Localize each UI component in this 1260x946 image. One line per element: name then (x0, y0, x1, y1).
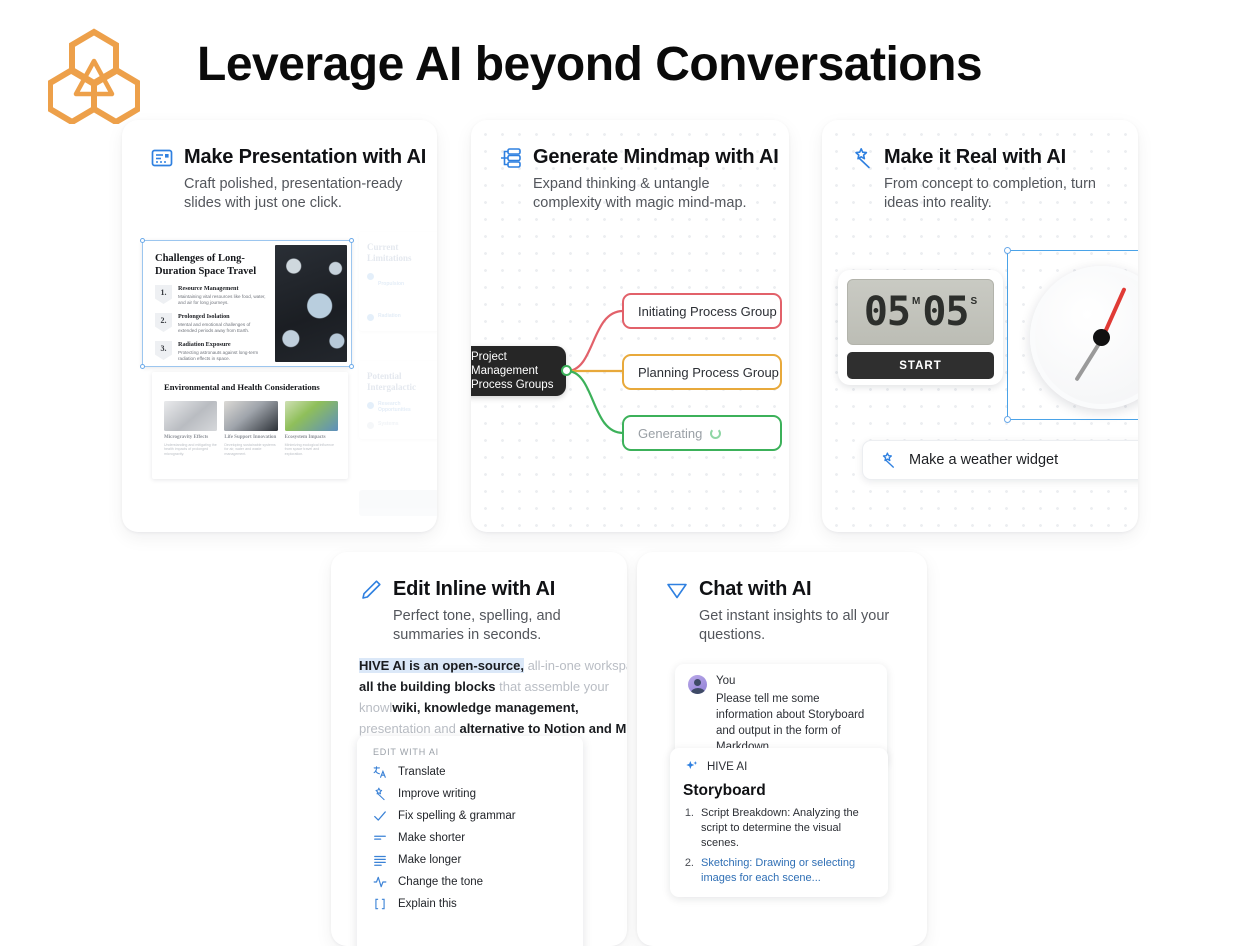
loading-spinner-icon (710, 428, 721, 439)
mindmap-root-label: Project Management Process Groups (471, 350, 556, 392)
cell-image (285, 401, 338, 431)
list-number: 2. (683, 856, 694, 886)
slide-bullet: 1. Resource Management Maintaining vital… (155, 285, 269, 306)
cell-desc: Developing sustainable systems for air, … (224, 443, 277, 457)
bullet-title: Resource Management (178, 285, 269, 293)
edit-with-ai-menu[interactable]: Edit with AI Translate Improv (357, 736, 583, 946)
cell-title: Ecosystem Impacts (285, 435, 338, 441)
slide-bullet: 2. Prolonged Isolation Mental and emotio… (155, 313, 269, 334)
timer-minutes: 05 (864, 292, 910, 332)
list-item: 2. Sketching: Drawing or selecting image… (683, 856, 875, 886)
bullet-desc: Protecting astronauts against long-term … (178, 350, 269, 362)
message-heading: Storyboard (683, 782, 875, 800)
bullet-desc: Mental and emotional challenges of exten… (178, 322, 269, 334)
bullet-desc: Maintaining vital resources like food, w… (178, 294, 269, 306)
cell-image (164, 401, 217, 431)
menu-item-label: Explain this (398, 898, 457, 910)
editable-paragraph[interactable]: HIVE AI is an open-source, all-in-one wo… (359, 655, 627, 739)
ghost-row-label: Radiation (378, 313, 401, 319)
list-number: 1. (683, 806, 694, 851)
presentation-icon (150, 146, 174, 170)
translate-icon (373, 765, 387, 779)
card-title: Edit Inline with AI (393, 576, 555, 602)
make-real-prompt-bar[interactable]: Make a weather widget (862, 440, 1138, 480)
menu-item-make-shorter[interactable]: Make shorter (357, 827, 583, 849)
menu-item-change-tone[interactable]: Change the tone (357, 871, 583, 893)
card-make-it-real[interactable]: Make it Real with AI From concept to com… (822, 120, 1138, 532)
slide-cell: Ecosystem Impacts Minimizing ecological … (285, 401, 338, 457)
chat-message-ai: HIVE AI Storyboard 1. Script Breakdown: … (670, 748, 888, 897)
ghost-heading: Current Limitations (367, 242, 431, 264)
menu-item-label: Change the tone (398, 876, 483, 888)
user-avatar (688, 675, 707, 694)
paragraph-span: that assemble (499, 679, 584, 694)
message-author: HIVE AI (707, 761, 747, 773)
send-plane-icon (665, 578, 689, 602)
tone-wave-icon (373, 875, 387, 889)
mindmap-root-node[interactable]: Project Management Process Groups (471, 346, 566, 396)
resize-handle-br[interactable] (349, 364, 354, 369)
card-edit-inline[interactable]: Edit Inline with AI Perfect tone, spelli… (331, 552, 627, 946)
card-make-presentation[interactable]: Make Presentation with AI Craft polished… (122, 120, 437, 532)
bullet-dot (367, 314, 374, 321)
paragraph-span: all-in-one workspace (524, 658, 627, 673)
menu-item-label: Improve writing (398, 788, 476, 800)
mindmap-node-label: Planning Process Group (638, 365, 779, 380)
analog-clock (1030, 266, 1138, 409)
magic-wand-icon (879, 451, 897, 469)
mindmap-node-label: Initiating Process Group (638, 304, 777, 319)
paragraph-span: and Miro. (589, 721, 627, 736)
card-subtitle: Craft polished, presentation-ready slide… (184, 175, 419, 213)
list-text: Script Breakdown: Analyzing the script t… (701, 806, 875, 851)
slide-heading: Environmental and Health Considerations (164, 382, 338, 393)
paragraph-span: HIVE AI is an open-source, (359, 658, 524, 673)
list-item: 1. Script Breakdown: Analyzing the scrip… (683, 806, 875, 851)
card-title: Make it Real with AI (884, 144, 1066, 170)
menu-item-translate[interactable]: Translate (357, 761, 583, 783)
card-subtitle: Perfect tone, spelling, and summaries in… (393, 607, 609, 645)
menu-item-improve-writing[interactable]: Improve writing (357, 783, 583, 805)
menu-item-label: Fix spelling & grammar (398, 810, 516, 822)
cell-image (224, 401, 277, 431)
timer-seconds-unit: S (971, 296, 978, 307)
page-header: Leverage AI beyond Conversations (0, 0, 1260, 120)
timer-widget[interactable]: 05 M 05 S START (838, 270, 1003, 385)
bullet-dot (367, 273, 374, 280)
ghost-footer-block (359, 490, 437, 516)
menu-item-label: Translate (398, 766, 446, 778)
ghost-row-text: ­­­­­­­­­­ (378, 300, 404, 306)
mindmap-node-label: Generating (638, 426, 702, 441)
ghost-row-label: Systems (378, 421, 399, 427)
hive-hexagon-logo (48, 28, 140, 124)
cell-desc: Understanding and mitigating the health … (164, 443, 217, 457)
paragraph-span: all the building blocks (359, 679, 499, 694)
menu-item-fix-spelling[interactable]: Fix spelling & grammar (357, 805, 583, 827)
ghost-row-label: Propulsion (378, 281, 404, 287)
ghost-row-text: ­­­­­­­­­­­­­ (378, 292, 404, 298)
magic-wand-icon (850, 146, 874, 170)
ghost-row-label: Research Opportunities (378, 401, 431, 413)
menu-item-label: Make shorter (398, 832, 465, 844)
bullet-number: 1. (155, 285, 172, 304)
resize-handle-tl[interactable] (140, 238, 145, 243)
card-title: Make Presentation with AI (184, 144, 426, 170)
ghost-slides-panel: Current Limitations Propulsion ­­­­­­­­­… (359, 232, 437, 522)
message-author: You (716, 675, 874, 687)
slide-image (275, 245, 347, 362)
slide-cell: Life Support Innovation Developing susta… (224, 401, 277, 457)
bullet-title: Prolonged Isolation (178, 313, 269, 321)
menu-section-label: Edit with AI (357, 747, 583, 761)
card-header: Chat with AI Get instant insights to all… (665, 576, 909, 645)
cell-title: Life Support Innovation (224, 435, 277, 441)
card-header: Make it Real with AI From concept to com… (850, 144, 1120, 213)
page-title: Leverage AI beyond Conversations (197, 34, 982, 96)
card-chat-with-ai[interactable]: Chat with AI Get instant insights to all… (637, 552, 927, 946)
timer-start-button[interactable]: START (847, 352, 994, 379)
card-subtitle: Get instant insights to all your questio… (699, 607, 909, 645)
sparkle-wand-icon (373, 787, 387, 801)
message-ordered-list: 1. Script Breakdown: Analyzing the scrip… (683, 806, 875, 886)
resize-handle-tl[interactable] (1004, 247, 1011, 254)
resize-handle-bl[interactable] (140, 364, 145, 369)
bullet-dot (367, 422, 374, 429)
list-text: Sketching: Drawing or selecting images f… (701, 856, 875, 886)
message-text: Please tell me some information about St… (716, 691, 874, 755)
timer-seconds: 05 (922, 292, 968, 332)
slide-thumbnail-second[interactable]: Environmental and Health Considerations … (152, 372, 348, 479)
bullet-title: Radiation Exposure (178, 341, 269, 349)
menu-item-explain-this[interactable]: Explain this (357, 893, 583, 915)
mindmap-connector-port[interactable] (561, 365, 572, 376)
check-icon (373, 809, 387, 823)
menu-item-label: Make longer (398, 854, 461, 866)
make-shorter-icon (373, 831, 387, 845)
slide-bullet: 3. Radiation Exposure Protecting astrona… (155, 341, 269, 362)
paragraph-span: presentation and (359, 721, 459, 736)
card-generate-mindmap[interactable]: Generate Mindmap with AI Expand thinking… (471, 120, 789, 532)
card-subtitle: From concept to completion, turn ideas i… (884, 175, 1120, 213)
brackets-icon (373, 897, 387, 911)
mindmap-node-generating[interactable]: Generating (622, 415, 782, 451)
menu-item-make-longer[interactable]: Make longer (357, 849, 583, 871)
sparkle-icon (683, 759, 699, 775)
paragraph-span: alternative to Notion (459, 721, 588, 736)
ghost-heading: Potential Intergalactic (367, 371, 431, 393)
card-title: Chat with AI (699, 576, 811, 602)
mindmap-node-planning[interactable]: Planning Process Group (622, 354, 782, 390)
card-header: Make Presentation with AI Craft polished… (150, 144, 419, 213)
cell-desc: Minimizing ecological influence from spa… (285, 443, 338, 457)
pencil-icon (359, 578, 383, 602)
resize-handle-tr[interactable] (349, 238, 354, 243)
slide-thumbnail-selected[interactable]: Challenges of Long-Duration Space Travel… (142, 240, 352, 367)
clock-center-pin (1093, 329, 1110, 346)
cell-title: Microgravity Effects (164, 435, 217, 441)
bullet-number: 3. (155, 341, 172, 360)
bullet-dot (367, 402, 374, 409)
slide-cell: Microgravity Effects Understanding and m… (164, 401, 217, 457)
prompt-text: Make a weather widget (909, 452, 1058, 468)
timer-display: 05 M 05 S (847, 279, 994, 345)
bullet-number: 2. (155, 313, 172, 332)
clock-widget-selection[interactable] (1007, 250, 1138, 420)
mindmap-node-initiating[interactable]: Initiating Process Group (622, 293, 782, 329)
slide-heading: Challenges of Long-Duration Space Travel (155, 253, 269, 278)
make-longer-icon (373, 853, 387, 867)
resize-handle-bl[interactable] (1004, 416, 1011, 423)
paragraph-span: wiki, knowledge management, (392, 700, 578, 715)
card-header: Edit Inline with AI Perfect tone, spelli… (359, 576, 609, 645)
timer-minutes-unit: M (912, 296, 920, 307)
